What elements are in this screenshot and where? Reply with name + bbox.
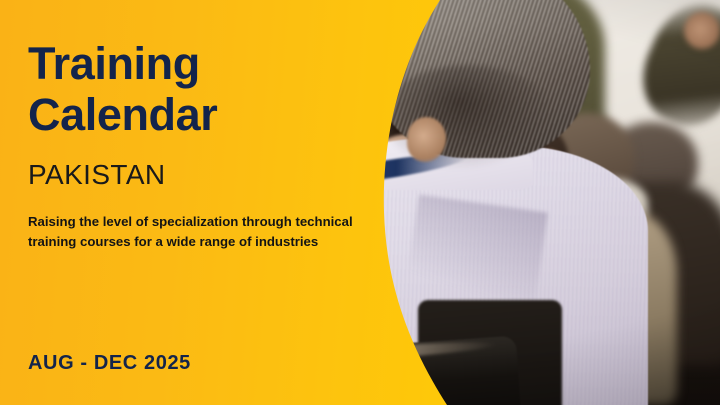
page-title: Training Calendar (28, 38, 217, 140)
tagline-text: Raising the level of specialization thro… (28, 212, 378, 252)
country-label: PAKISTAN (28, 159, 166, 191)
training-calendar-cover-slide: Training Calendar PAKISTAN Raising the l… (0, 0, 720, 405)
date-range-label: AUG - DEC 2025 (28, 352, 191, 375)
cover-copy-block: Training Calendar PAKISTAN Raising the l… (0, 0, 460, 405)
